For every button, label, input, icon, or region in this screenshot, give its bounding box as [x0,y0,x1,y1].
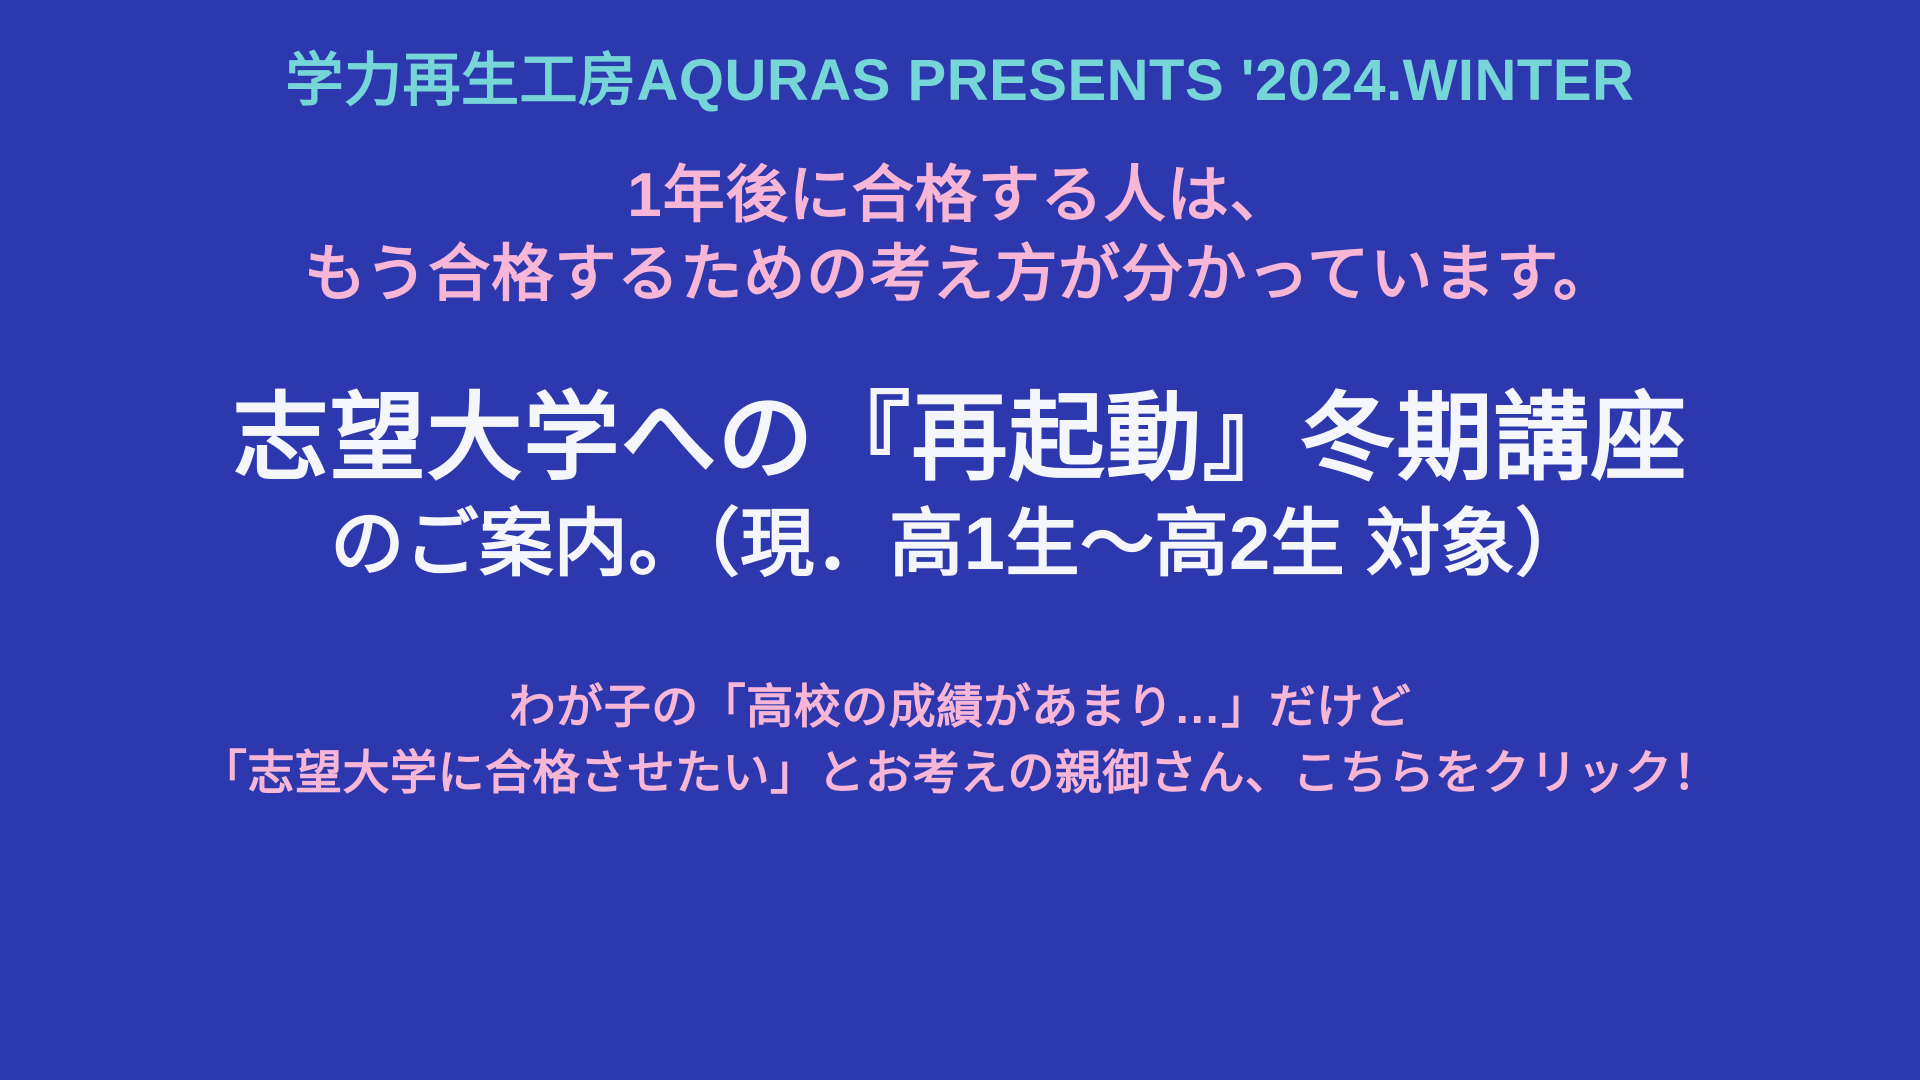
cta-line-2: 「志望大学に合格させたい」とお考えの親御さん、こちらをクリック！ [200,740,1720,807]
eyebrow-text: 学力再生工房AQURAS PRESENTS '2024.WINTER [286,48,1635,113]
cta-line-1: わが子の「高校の成績があまり…」だけど [200,674,1720,741]
promotional-banner[interactable]: 学力再生工房AQURAS PRESENTS '2024.WINTER 1年後に合… [0,0,1920,1080]
headline-main-line: 志望大学への『再起動』冬期講座 [233,387,1688,491]
main-headline: 志望大学への『再起動』冬期講座 のご案内。（現．高1生～高2生 対象） [233,387,1688,588]
lead-line-2: もう合格するための考え方が分かっています。 [304,235,1616,314]
banner-eyebrow: 学力再生工房AQURAS PRESENTS '2024.WINTER [286,52,1635,110]
headline-sub-line: のご案内。（現．高1生～高2生 対象） [233,500,1688,587]
cta-copy[interactable]: わが子の「高校の成績があまり…」だけど 「志望大学に合格させたい」とお考えの親御… [200,674,1720,807]
lead-line-1: 1年後に合格する人は、 [304,156,1616,235]
lead-copy: 1年後に合格する人は、 もう合格するための考え方が分かっています。 [304,156,1616,315]
